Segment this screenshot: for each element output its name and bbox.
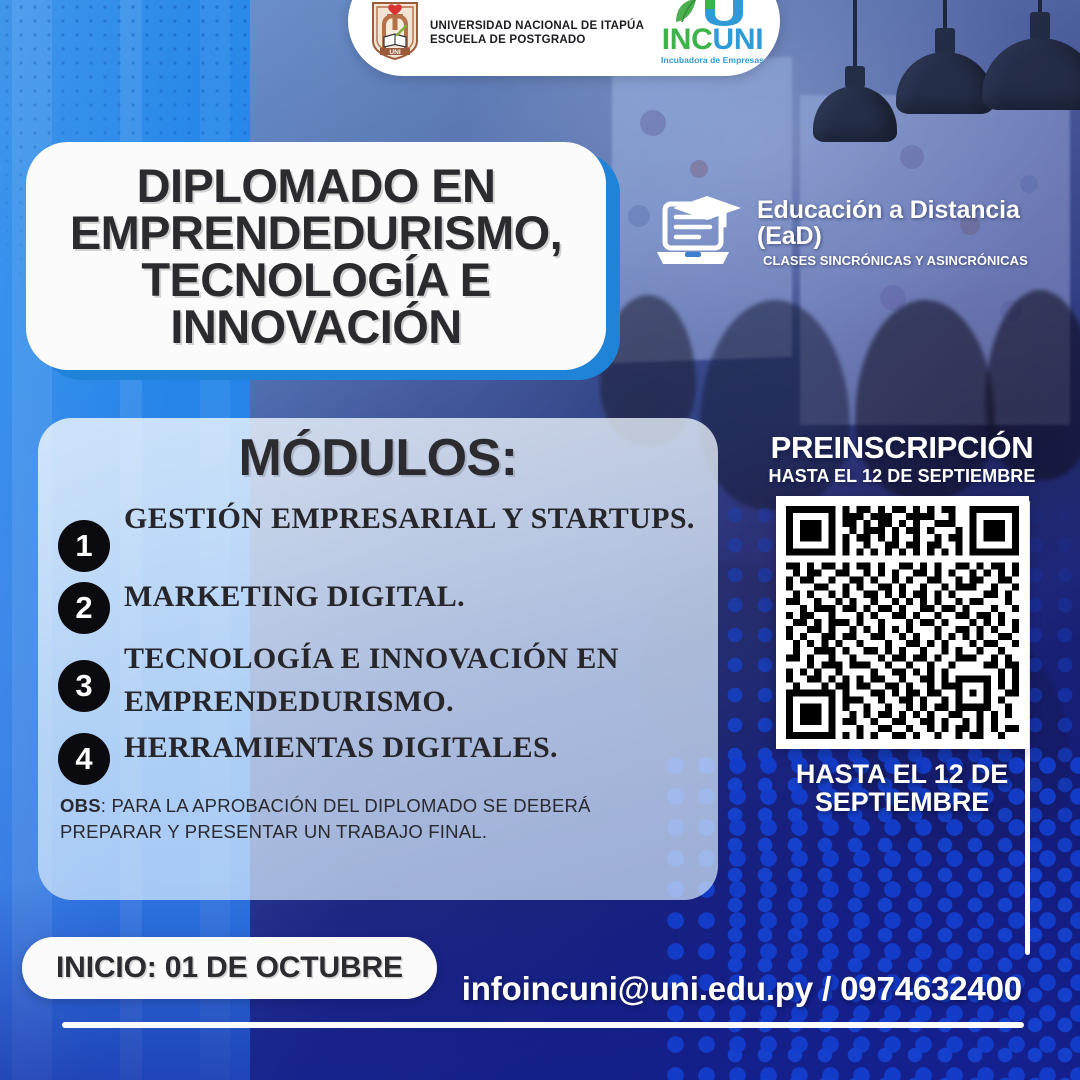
distance-education-text: Educación a Distancia (EaD) CLASES SINCR…	[757, 190, 1080, 268]
svg-text:UNI: UNI	[389, 49, 401, 56]
modules-heading: MÓDULOS:	[58, 432, 698, 484]
header-logo-bar: UNI UNIVERSIDAD NACIONAL DE ITAPÚA ESCUE…	[348, 0, 780, 76]
laptop-graduation-cap-icon	[655, 190, 743, 274]
distance-education-title: Educación a Distancia (EaD)	[757, 198, 1080, 250]
contact-info[interactable]: infoincuni@uni.edu.py / 0974632400	[462, 970, 1022, 1008]
horizontal-rule	[62, 1022, 1024, 1028]
incuni-tagline: Incubadora de Empresas	[661, 55, 764, 65]
page-title: DIPLOMADO EN EMPRENDEDURISMO, TECNOLOGÍA…	[26, 162, 606, 350]
preinscription-title: PREINSCRIPCIÓN	[742, 432, 1062, 463]
qr-code-image[interactable]	[786, 506, 1019, 739]
start-date-badge: INICIO: 01 DE OCTUBRE	[22, 937, 437, 999]
flyer-poster: UNI UNIVERSIDAD NACIONAL DE ITAPÚA ESCUE…	[0, 0, 1080, 1080]
module-label: HERRAMIENTAS DIGITALES.	[124, 725, 558, 770]
modules-panel: MÓDULOS: 1 GESTIÓN EMPRESARIAL Y STARTUP…	[38, 418, 718, 900]
incuni-logo-block: INCUNI Incubadora de Empresas	[661, 0, 764, 66]
module-label: GESTIÓN EMPRESARIAL Y STARTUPS.	[124, 496, 695, 541]
module-number-badge: 4	[58, 733, 110, 785]
preinscription-footer-deadline: HASTA EL 12 DE SEPTIEMBRE	[742, 760, 1062, 816]
module-number-badge: 2	[58, 582, 110, 634]
university-line-1: UNIVERSIDAD NACIONAL DE ITAPÚA	[430, 20, 644, 34]
start-date-text: INICIO: 01 DE OCTUBRE	[56, 951, 403, 985]
preinscription-deadline: HASTA EL 12 DE SEPTIEMBRE	[742, 466, 1062, 487]
title-card: DIPLOMADO EN EMPRENDEDURISMO, TECNOLOGÍA…	[26, 142, 606, 370]
incuni-wordmark: INCUNI	[661, 26, 764, 54]
university-line-2: ESCUELA DE POSTGRADO	[430, 34, 644, 48]
observation-note: OBS: PARA LA APROBACIÓN DEL DIPLOMADO SE…	[58, 793, 698, 846]
module-label: TECNOLOGÍA E INNOVACIÓN EN EMPRENDEDURIS…	[124, 636, 698, 723]
module-item: 2 MARKETING DIGITAL.	[58, 574, 698, 634]
university-name: UNIVERSIDAD NACIONAL DE ITAPÚA ESCUELA D…	[430, 20, 644, 47]
observation-text: : PARA LA APROBACIÓN DEL DIPLOMADO SE DE…	[60, 795, 591, 842]
qr-code[interactable]	[776, 496, 1029, 749]
incuni-inc-text: INC	[662, 23, 713, 56]
preinscription-block: PREINSCRIPCIÓN HASTA EL 12 DE SEPTIEMBRE	[742, 432, 1062, 816]
module-label: MARKETING DIGITAL.	[124, 574, 465, 619]
uni-shield-icon: UNI	[370, 1, 420, 66]
incuni-uni-text: UNI	[713, 23, 764, 56]
module-number-badge: 1	[58, 520, 110, 572]
module-item: 3 TECNOLOGÍA E INNOVACIÓN EN EMPRENDEDUR…	[58, 636, 698, 723]
module-item: 4 HERRAMIENTAS DIGITALES.	[58, 725, 698, 785]
distance-education-block: Educación a Distancia (EaD) CLASES SINCR…	[655, 190, 1080, 274]
module-number-badge: 3	[58, 660, 110, 712]
distance-education-subtitle: CLASES SINCRÓNICAS Y ASINCRÓNICAS	[763, 253, 1080, 268]
observation-label: OBS	[60, 795, 101, 816]
module-item: 1 GESTIÓN EMPRESARIAL Y STARTUPS.	[58, 496, 698, 572]
university-logo-block: UNI UNIVERSIDAD NACIONAL DE ITAPÚA ESCUE…	[370, 1, 644, 66]
